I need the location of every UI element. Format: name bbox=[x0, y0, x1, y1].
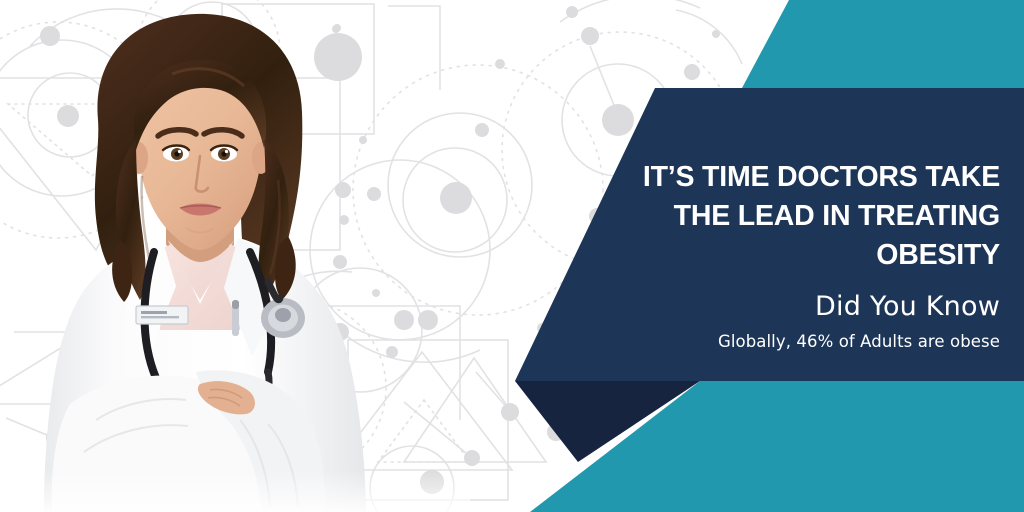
statistic-tagline: Globally, 46% of Adults are obese bbox=[620, 332, 1000, 352]
subheading: Did You Know bbox=[620, 292, 1000, 322]
teal-top-shape bbox=[742, 0, 1024, 88]
headline-text-block: IT’S TIME DOCTORS TAKE THE LEAD IN TREAT… bbox=[620, 158, 1000, 352]
page-title: IT’S TIME DOCTORS TAKE THE LEAD IN TREAT… bbox=[620, 158, 1000, 275]
promo-banner: IT’S TIME DOCTORS TAKE THE LEAD IN TREAT… bbox=[0, 0, 1024, 512]
